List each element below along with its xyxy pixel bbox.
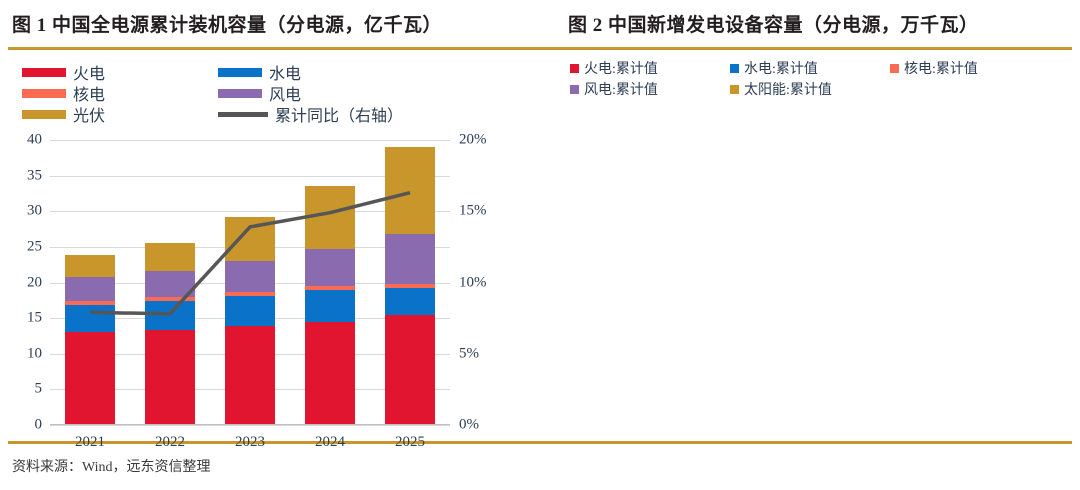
chart1-ytick-right-label: 15% [459, 203, 487, 220]
chart1-ytick-label: 0 [35, 417, 43, 434]
chart1-ytick-right-label: 5% [459, 345, 479, 362]
chart1-xtick-label: 2025 [395, 434, 425, 451]
figure1-title: 图 1 中国全电源累计装机容量（分电源，亿千瓦） [12, 10, 442, 37]
chart1-ytick-label: 10 [27, 345, 42, 362]
legend-color-swatch-icon [730, 85, 739, 94]
chart1-legend: 火电核电光伏水电风电累计同比（右轴） [22, 60, 502, 122]
chart1-legend-item-2: 光伏 [22, 102, 105, 126]
chart1-legend-item-5: 累计同比（右轴） [218, 102, 403, 126]
chart1-xtick-label: 2023 [235, 434, 265, 451]
legend-color-swatch-icon [570, 64, 579, 73]
chart1-ytick-label: 40 [27, 132, 42, 149]
chart1-panel: 火电核电光伏水电风电累计同比（右轴） 05101520253035400%5%1… [0, 52, 540, 440]
legend-color-swatch-icon [22, 68, 66, 77]
legend-color-swatch-icon [218, 68, 262, 77]
chart1-ytick-right-label: 0% [459, 417, 479, 434]
chart2-legend-label: 火电:累计值 [584, 58, 658, 78]
chart2-legend-item-2: 核电:累计值 [890, 58, 978, 78]
chart1-legend-label: 光伏 [73, 102, 105, 126]
chart2-legend-item-3: 风电:累计值 [570, 79, 658, 99]
chart2-legend-item-1: 水电:累计值 [730, 58, 818, 78]
chart1-legend-label: 累计同比（右轴） [275, 102, 403, 126]
chart1-ytick-label: 20 [27, 274, 42, 291]
chart2-legend-label: 太阳能:累计值 [744, 79, 832, 99]
legend-color-swatch-icon [730, 64, 739, 73]
chart2-panel: 火电:累计值水电:累计值核电:累计值风电:累计值太阳能:累计值 01000020… [540, 52, 1080, 440]
chart2-legend-label: 风电:累计值 [584, 79, 658, 99]
chart1-plot-area: 05101520253035400%5%10%15%20%20212022202… [50, 140, 450, 425]
chart2-legend-label: 水电:累计值 [744, 58, 818, 78]
figure2-number: 图 2 [568, 15, 603, 36]
chart1-xtick-label: 2021 [75, 434, 105, 451]
titles-row: 图 1 中国全电源累计装机容量（分电源，亿千瓦） 图 2 中国新增发电设备容量（… [0, 10, 1080, 42]
figure-page: 图 1 中国全电源累计装机容量（分电源，亿千瓦） 图 2 中国新增发电设备容量（… [0, 0, 1080, 490]
chart1-ytick-right-label: 10% [459, 274, 487, 291]
legend-line-swatch-icon [218, 112, 268, 117]
chart1-ytick-label: 35 [27, 167, 42, 184]
chart2-legend: 火电:累计值水电:累计值核电:累计值风电:累计值太阳能:累计值 [570, 58, 1070, 104]
divider-top [8, 47, 1072, 50]
chart2-legend-label: 核电:累计值 [904, 58, 978, 78]
legend-color-swatch-icon [22, 110, 66, 119]
legend-color-swatch-icon [22, 89, 66, 98]
chart1-xtick-label: 2022 [155, 434, 185, 451]
legend-color-swatch-icon [570, 85, 579, 94]
figure1-number: 图 1 [12, 15, 47, 36]
chart2-legend-item-0: 火电:累计值 [570, 58, 658, 78]
chart2-legend-item-4: 太阳能:累计值 [730, 79, 832, 99]
chart1-xtick-label: 2024 [315, 434, 345, 451]
figure2-title-text: 中国新增发电设备容量（分电源，万千瓦） [608, 15, 979, 36]
chart1-yoy-line [50, 140, 450, 425]
chart1-ytick-right-label: 20% [459, 132, 487, 149]
legend-color-swatch-icon [890, 64, 899, 73]
figure1-title-text: 中国全电源累计装机容量（分电源，亿千瓦） [52, 15, 442, 36]
chart1-ytick-label: 30 [27, 203, 42, 220]
chart1-ytick-label: 25 [27, 238, 42, 255]
chart1-gridline [50, 425, 450, 426]
source-note: 资料来源：Wind，远东资信整理 [12, 456, 211, 476]
legend-color-swatch-icon [218, 89, 262, 98]
figure2-title: 图 2 中国新增发电设备容量（分电源，万千瓦） [568, 10, 979, 37]
chart1-ytick-label: 15 [27, 310, 42, 327]
chart1-ytick-label: 5 [35, 381, 43, 398]
chart1-yoy-line-path [90, 193, 410, 314]
